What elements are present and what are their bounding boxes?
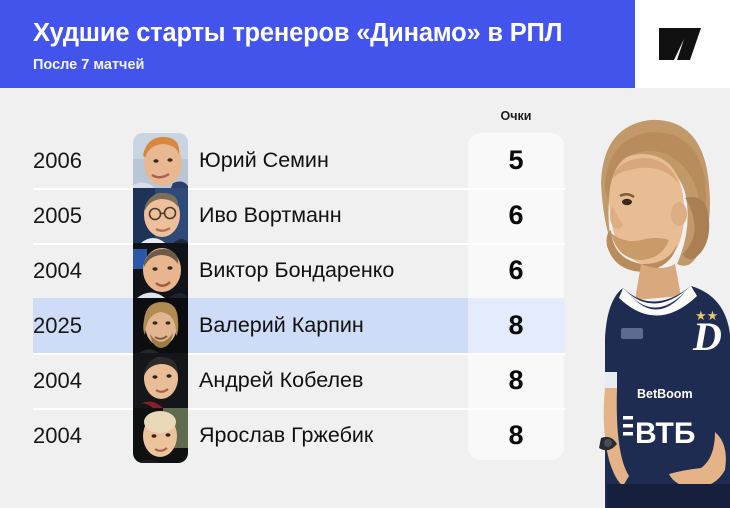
cell-coach-name: Юрий Семин (199, 133, 464, 188)
cell-coach-name: Андрей Кобелев (199, 353, 464, 408)
svg-text:ВТБ: ВТБ (635, 417, 695, 450)
karpin-illustration: D ★★ BetBoom ВТБ (565, 88, 730, 508)
cell-year: 2005 (33, 188, 133, 243)
cell-points: 6 (468, 243, 564, 298)
cell-year: 2004 (33, 408, 133, 463)
coach-avatar (133, 188, 188, 243)
cell-year: 2004 (33, 353, 133, 408)
infographic-root: Худшие старты тренеров «Динамо» в РПЛ По… (0, 0, 730, 508)
cell-coach-name: Иво Вортманн (199, 188, 464, 243)
cell-coach-name: Ярослав Гржебик (199, 408, 464, 463)
coach-avatar (133, 298, 188, 353)
coach-avatar (133, 408, 188, 463)
cell-points: 8 (468, 408, 564, 463)
cell-points: 5 (468, 133, 564, 188)
page-title: Худшие старты тренеров «Динамо» в РПЛ (33, 19, 562, 48)
cell-points: 6 (468, 188, 564, 243)
valery-karpin-photo: D ★★ BetBoom ВТБ (565, 88, 730, 508)
coach-avatar (133, 133, 188, 188)
cell-points: 8 (468, 353, 564, 408)
coach-avatar (133, 243, 188, 298)
coach-avatar (133, 353, 188, 408)
svg-text:BetBoom: BetBoom (637, 387, 693, 401)
page-subtitle: После 7 матчей (33, 57, 144, 73)
cell-coach-name: Валерий Карпин (199, 298, 464, 353)
cell-coach-name: Виктор Бондаренко (199, 243, 464, 298)
points-column-header: Очки (468, 109, 564, 123)
svg-text:★★: ★★ (695, 308, 718, 323)
cell-year: 2004 (33, 243, 133, 298)
cell-year: 2025 (33, 298, 133, 353)
sports-ru-logo-icon (657, 26, 703, 62)
cell-year: 2006 (33, 133, 133, 188)
cell-points: 8 (468, 298, 564, 353)
logo-zone (635, 0, 730, 88)
